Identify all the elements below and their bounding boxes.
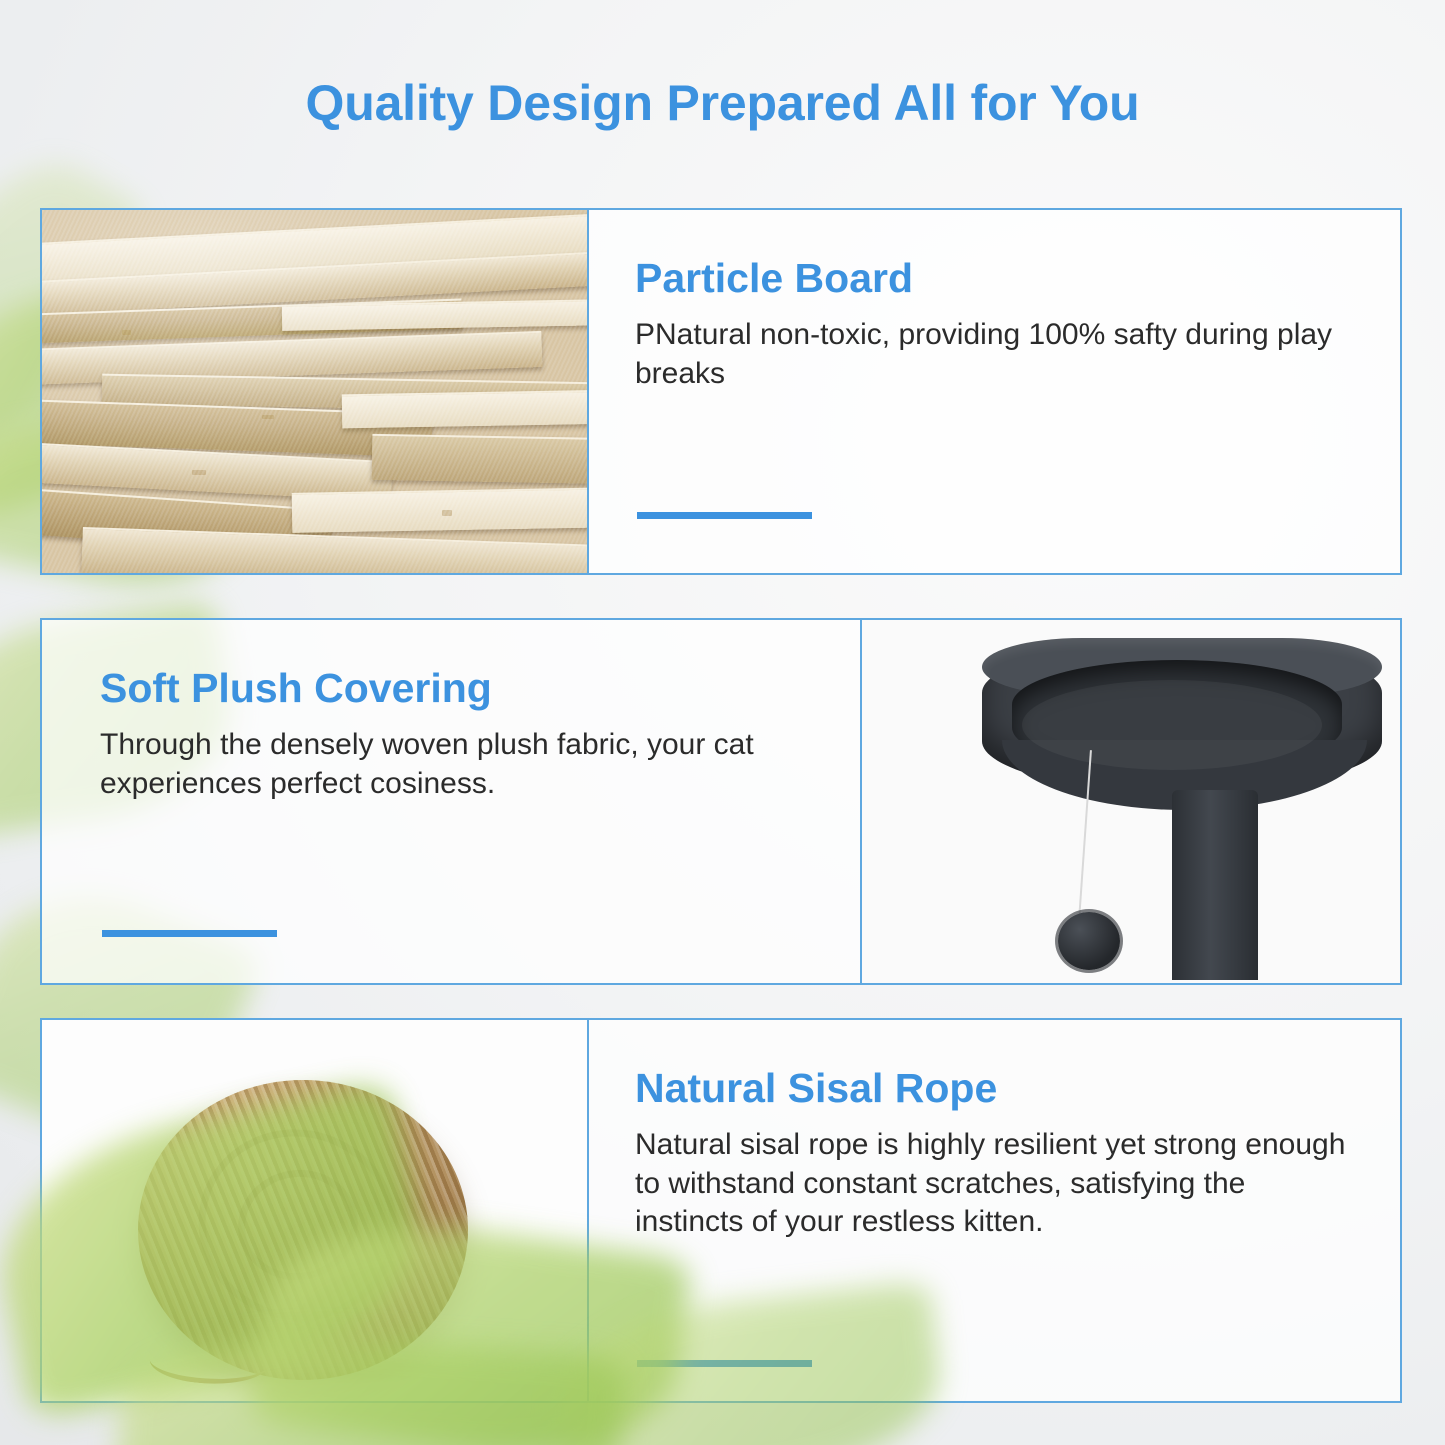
page-title: Quality Design Prepared All for You [0, 74, 1445, 132]
feature-card-particle-board: Particle Board PNatural non-toxic, provi… [40, 208, 1402, 575]
plush-title: Soft Plush Covering [100, 666, 830, 710]
particle-board-body: PNatural non-toxic, providing 100% safty… [635, 316, 1348, 393]
particle-board-title: Particle Board [635, 256, 1348, 300]
accent-rule [102, 930, 277, 937]
plush-perch-image [860, 620, 1400, 983]
sisal-body: Natural sisal rope is highly resilient y… [635, 1126, 1348, 1241]
particle-board-image [42, 210, 589, 573]
sisal-title: Natural Sisal Rope [635, 1066, 1348, 1110]
plush-text: Soft Plush Covering Through the densely … [42, 620, 860, 983]
plush-body: Through the densely woven plush fabric, … [100, 726, 790, 803]
particle-board-text: Particle Board PNatural non-toxic, provi… [589, 210, 1400, 573]
feature-card-soft-plush-covering: Soft Plush Covering Through the densely … [40, 618, 1402, 985]
accent-rule [637, 512, 812, 519]
